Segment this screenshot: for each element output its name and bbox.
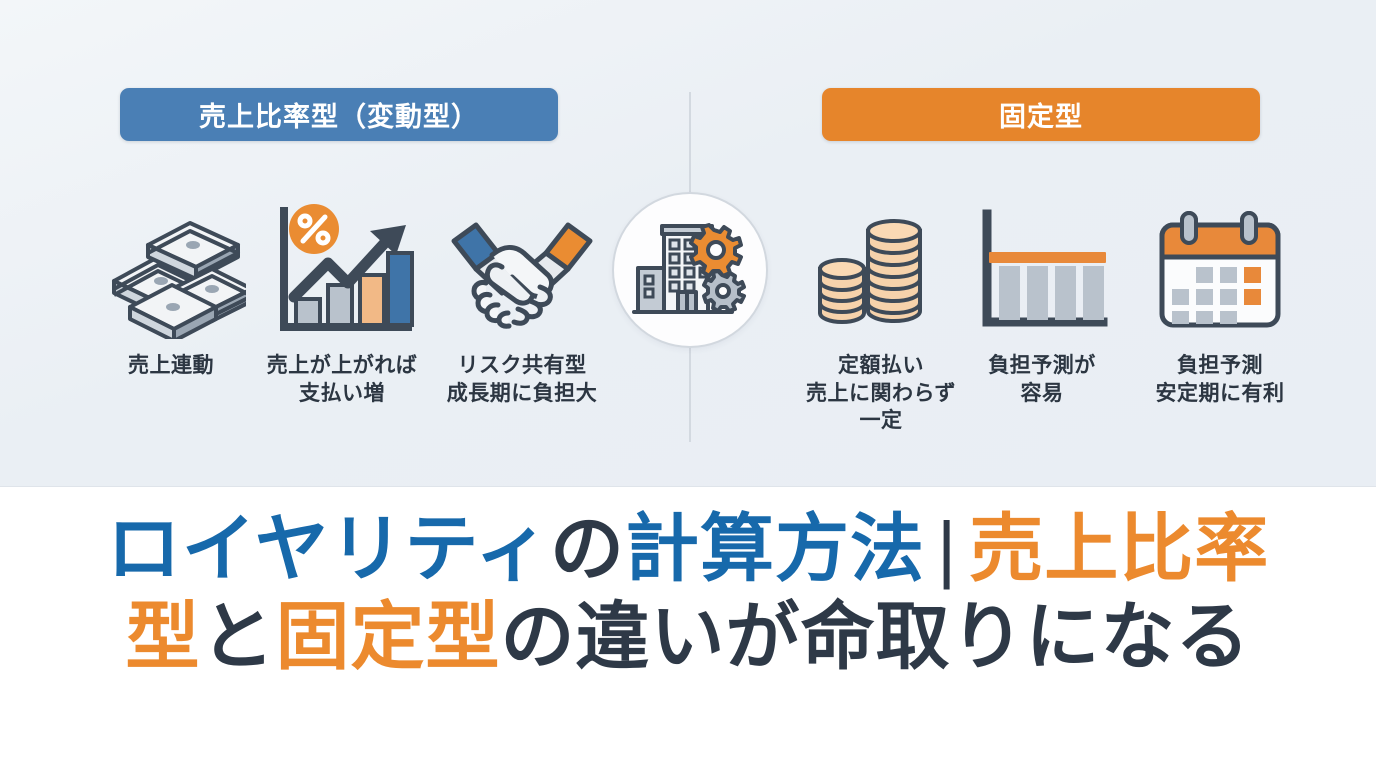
item-sales-linked: 売上連動	[88, 196, 254, 380]
headline-run-2: 計算方法	[625, 507, 925, 590]
caption-risk-sharing: リスク共有型 成長期に負担大	[447, 352, 598, 407]
headline-run-3: |	[925, 507, 969, 590]
headline-run-0: ロイヤリティ	[107, 507, 550, 590]
badge-variable-type: 売上比率型（変動型）	[120, 88, 558, 141]
headline-run-3: の違いが命取りになる	[501, 595, 1251, 678]
comparison-panel: 売上比率型（変動型） 固定型	[0, 0, 1376, 487]
item-stable-period-advantage: 負担予測 安定期に有利	[1134, 196, 1306, 407]
infographic-page: 売上比率型（変動型） 固定型	[0, 0, 1376, 768]
page-title: ロイヤリティの計算方法|売上比率 型と固定型の違いが命取りになる	[0, 505, 1376, 681]
caption-sales-linked: 売上連動	[128, 352, 214, 380]
coin-stacks-icon	[816, 196, 946, 346]
headline-run-1: と	[201, 595, 276, 678]
caption-sales-up-payment-up: 売上が上がれば 支払い増	[267, 352, 418, 407]
headline-run-4: 売上比率	[969, 507, 1269, 590]
headline-run-0: 型	[126, 595, 201, 678]
handshake-icon	[442, 196, 602, 346]
calendar-icon	[1150, 196, 1290, 346]
item-sales-up-payment-up: 売上が上がれば 支払い増	[256, 196, 428, 407]
growth-bar-chart-percent-icon	[266, 196, 418, 346]
headline-run-1: の	[550, 507, 625, 590]
caption-predictable-cost: 負担予測が 容易	[988, 352, 1096, 407]
headline-line-1: ロイヤリティの計算方法|売上比率	[0, 505, 1376, 593]
item-predictable-cost: 負担予測が 容易	[962, 196, 1122, 407]
caption-fixed-payment: 定額払い 売上に関わらず 一定	[806, 352, 956, 435]
caption-stable-period-advantage: 負担予測 安定期に有利	[1156, 352, 1285, 407]
item-fixed-payment: 定額払い 売上に関わらず 一定	[798, 196, 964, 435]
center-business-badge	[612, 192, 768, 348]
flat-bar-chart-icon	[971, 196, 1113, 346]
headline-line-2: 型と固定型の違いが命取りになる	[0, 593, 1376, 681]
item-risk-sharing: リスク共有型 成長期に負担大	[436, 196, 608, 407]
building-gears-icon	[632, 216, 748, 324]
cash-stacks-icon	[96, 196, 246, 346]
headline-run-2: 固定型	[276, 595, 501, 678]
badge-fixed-type: 固定型	[822, 88, 1260, 141]
